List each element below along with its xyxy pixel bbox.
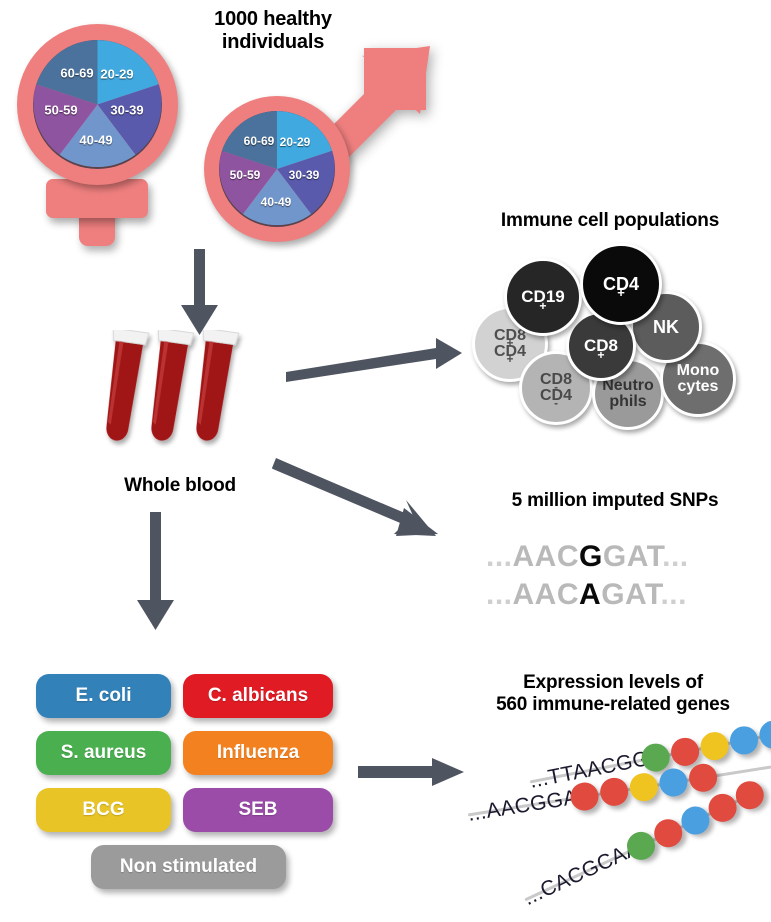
strand-sequence-text: ...CACGCAA [520,836,644,911]
stimulus-pill-s-aureus[interactable]: S. aureus [36,731,171,775]
nucleotide-bead [657,766,689,798]
nucleotide-bead [598,776,630,808]
stimulus-pill-influenza[interactable]: Influenza [183,731,333,775]
nucleotide-bead [687,762,719,794]
bubble-line-1: NK [653,318,679,337]
bubble-line-1: CD19+ [521,288,564,306]
expression-heading: Expression levels of 560 immune-related … [460,672,766,715]
snp-trail: ... [660,578,687,611]
bubble-cd19-positive: CD19+ [504,258,582,336]
snp-prefix: AAC [513,578,580,611]
snp-lead: ... [486,578,513,611]
bubble-line-1: CD8+ [584,337,618,355]
snp-suffix: GAT [603,540,662,573]
stimulus-pill-e-coli[interactable]: E. coli [36,674,171,718]
snp-sequence-row-2: ...AACAGAT... [486,578,687,612]
immune-cell-bubble-group: CD8+CD4+ CD8-CD4- Neutrophils Monocytes … [0,0,771,430]
stimulus-pill-non-stimulated[interactable]: Non stimulated [91,845,286,889]
snp-trail: ... [662,540,689,573]
stimulus-pill-seb[interactable]: SEB [183,788,333,832]
snp-suffix: GAT [601,578,660,611]
bubble-line-2: CD4- [540,388,572,404]
bubble-line-1: Mono [677,363,720,379]
bubble-line-1: Neutro [602,378,654,394]
bubble-line-1: CD8- [540,372,572,388]
bubble-cd4-positive: CD4+ [580,243,662,325]
expression-heading-line1: Expression levels of [460,672,766,694]
snps-heading: 5 million imputed SNPs [470,490,760,512]
bubble-line-2: phils [602,394,654,410]
snp-prefix: AAC [513,540,580,573]
snp-sequence-row-1: ...AACGGAT... [486,540,689,574]
nucleotide-bead [757,718,771,751]
snp-variant-allele: A [579,578,601,611]
figure-canvas: 1000 healthy individuals 20-29 30-39 40-… [0,0,771,922]
bubble-line-2: CD4+ [494,344,526,360]
arrow-blood-to-snps [246,456,461,556]
bubble-line-1: CD8+ [494,328,526,344]
expression-heading-line2: 560 immune-related genes [460,694,766,716]
arrow-stimuli-to-expression [358,750,468,796]
bubble-line-1: CD4+ [603,275,639,294]
stimulus-pill-bcg[interactable]: BCG [36,788,171,832]
arrow-blood-to-stimuli [133,512,179,632]
nucleotide-bead [628,771,660,803]
snp-lead: ... [486,540,513,573]
stimulus-pill-c-albicans[interactable]: C. albicans [183,674,333,718]
bubble-line-2: cytes [677,379,720,395]
snp-variant-allele: G [579,540,603,573]
